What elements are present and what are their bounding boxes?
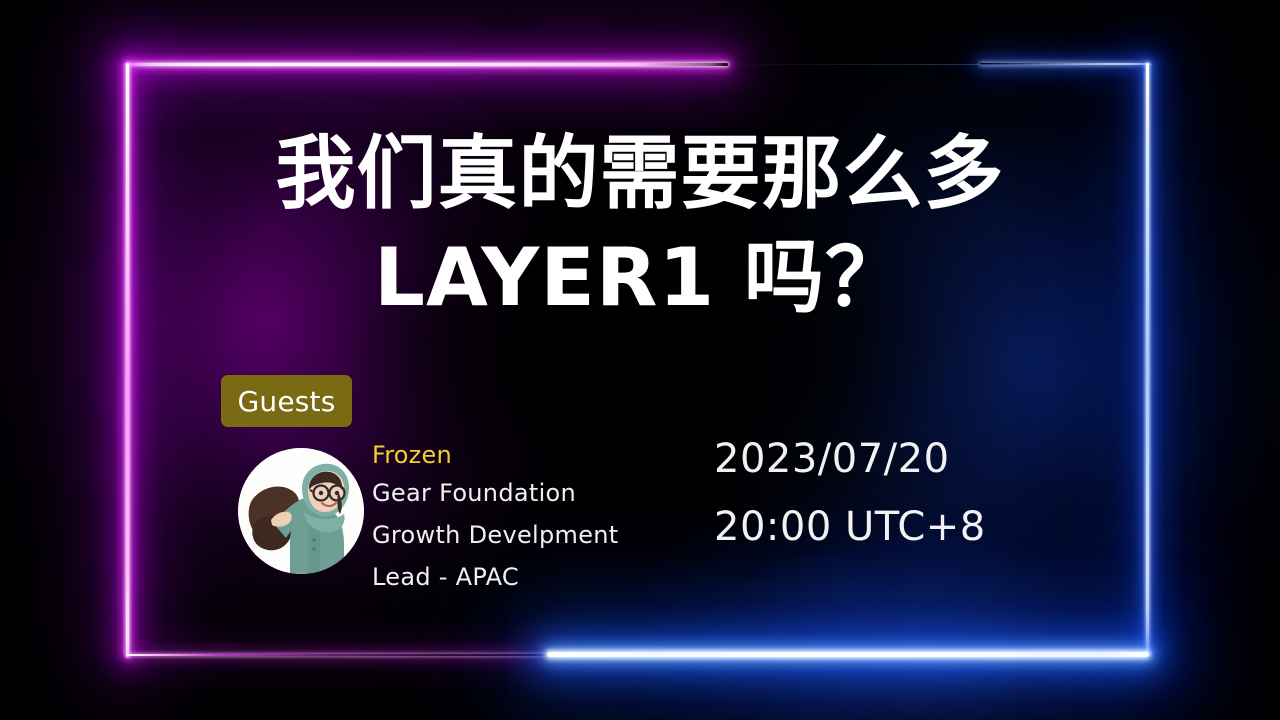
headline-line-2: LAYER1 吗？ bbox=[150, 226, 1130, 330]
schedule-time: 20:00 UTC+8 bbox=[714, 493, 986, 561]
schedule: 2023/07/20 20:00 UTC+8 bbox=[714, 425, 986, 561]
headline: 我们真的需要那么多 LAYER1 吗？ bbox=[150, 122, 1130, 330]
schedule-date: 2023/07/20 bbox=[714, 425, 986, 493]
guests-badge-label: Guests bbox=[237, 385, 335, 418]
guests-badge: Guests bbox=[221, 375, 352, 427]
slide-content: 我们真的需要那么多 LAYER1 吗？ Guests bbox=[0, 0, 1280, 720]
headline-line-1: 我们真的需要那么多 bbox=[150, 122, 1130, 226]
guest-affiliation-line-3: Lead - APAC bbox=[372, 556, 792, 598]
avatar bbox=[238, 448, 364, 574]
promo-slide: 我们真的需要那么多 LAYER1 吗？ Guests bbox=[0, 0, 1280, 720]
